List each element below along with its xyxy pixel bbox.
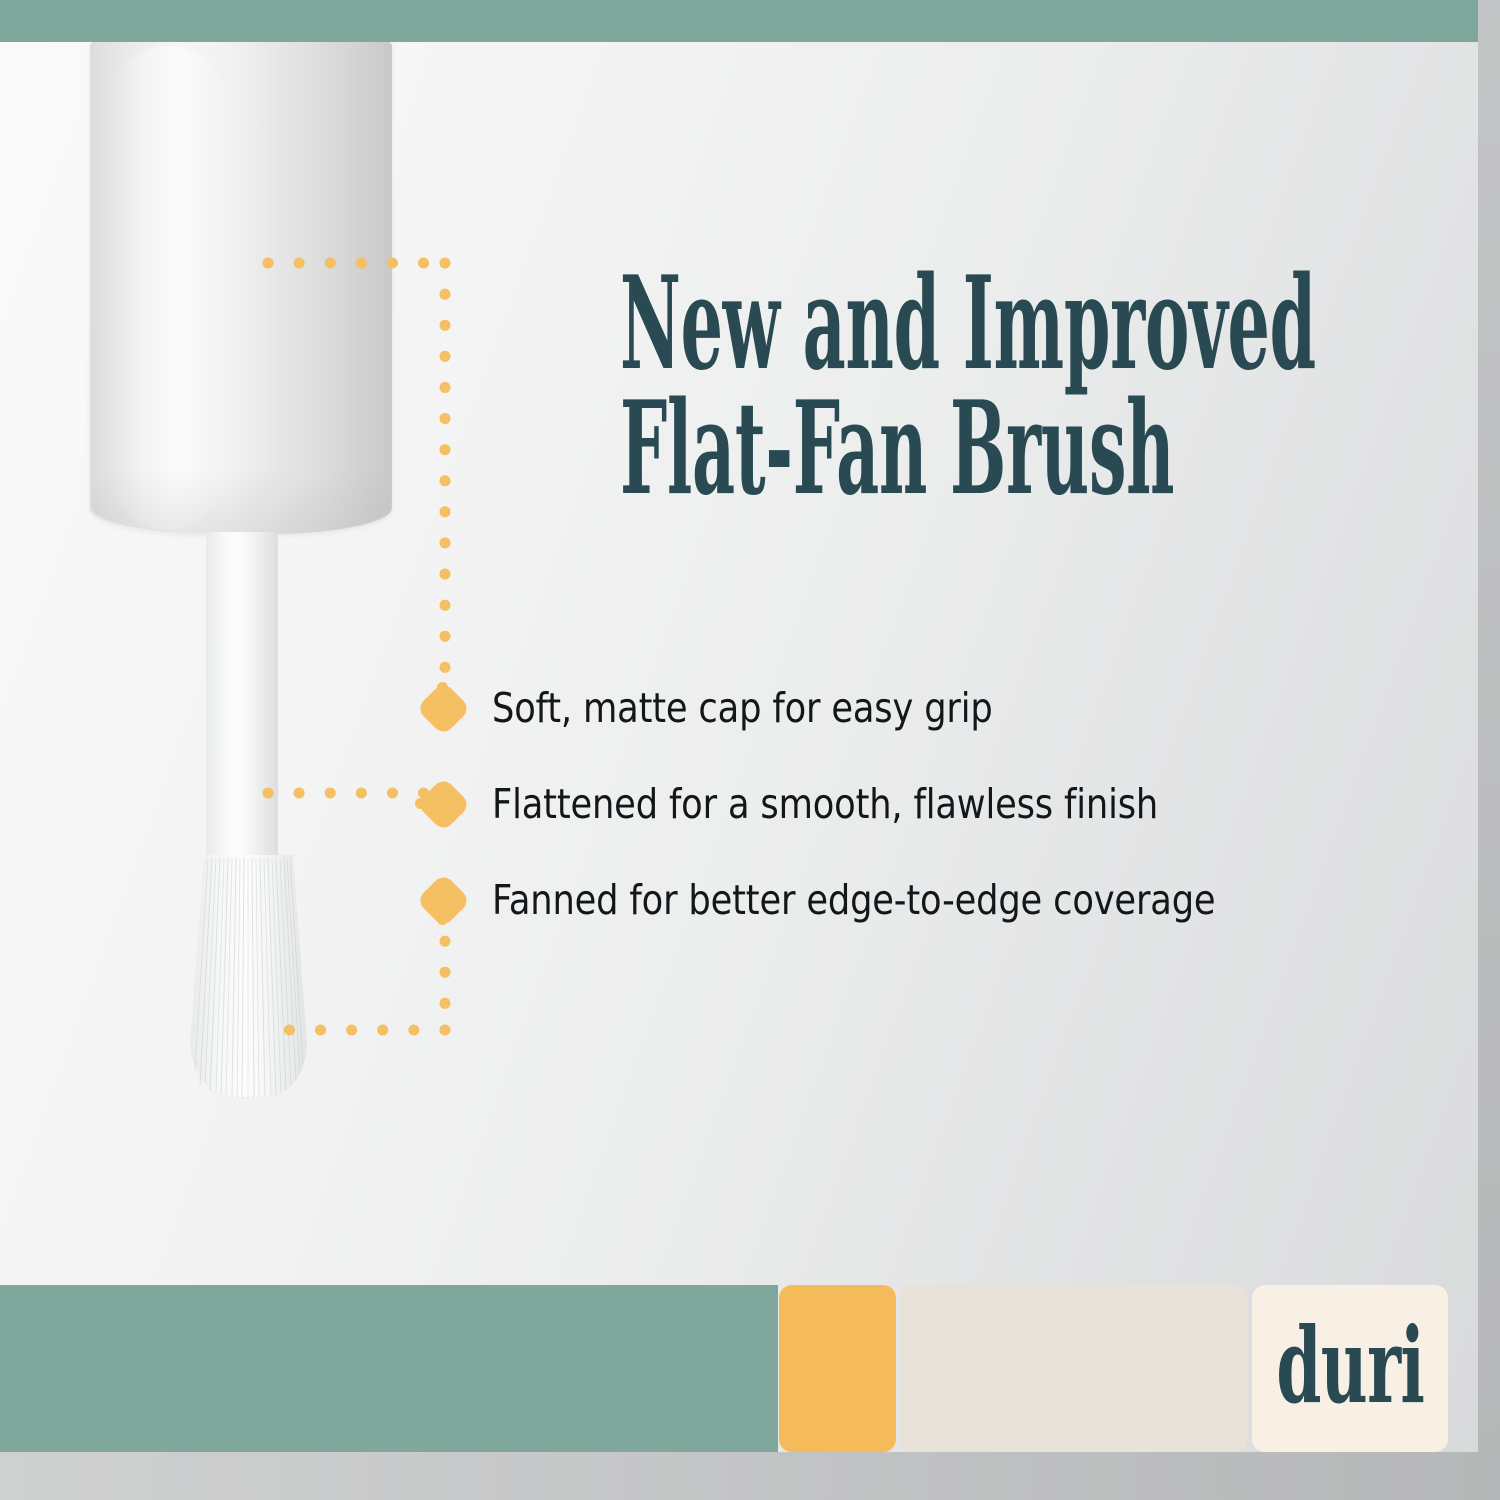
feature-label: Flattened for a smooth, flawless finish	[492, 780, 1158, 828]
diamond-bullet-icon	[420, 685, 466, 731]
footer-bar: duri	[0, 1285, 1478, 1452]
list-item: Fanned for better edge-to-edge coverage	[420, 852, 1470, 948]
feature-label: Soft, matte cap for easy grip	[492, 684, 993, 732]
footer-block-cream: duri	[1252, 1285, 1448, 1452]
list-item: Soft, matte cap for easy grip	[420, 660, 1470, 756]
diamond-bullet-icon	[420, 781, 466, 827]
feature-list: Soft, matte cap for easy grip Flattened …	[420, 660, 1470, 948]
frame-edge-right	[1478, 0, 1500, 1500]
top-accent-bar-fill	[0, 0, 1478, 42]
footer-block-amber	[779, 1285, 896, 1452]
feature-label: Fanned for better edge-to-edge coverage	[492, 876, 1215, 924]
poster-content: New and Improved Flat-Fan Brush Soft, ma…	[0, 0, 1500, 1500]
headline-line-2: Flat-Fan Brush	[620, 387, 1410, 512]
diamond-bullet-icon	[420, 877, 466, 923]
product-feature-poster: New and Improved Flat-Fan Brush Soft, ma…	[0, 0, 1500, 1500]
top-accent-bar	[0, 0, 1500, 42]
footer-block-beige	[899, 1285, 1248, 1452]
footer-block-green	[0, 1285, 778, 1452]
frame-edge-bottom	[0, 1452, 1500, 1500]
list-item: Flattened for a smooth, flawless finish	[420, 756, 1470, 852]
brand-logo: duri	[1276, 1314, 1424, 1424]
page-title: New and Improved Flat-Fan Brush	[620, 262, 1410, 513]
